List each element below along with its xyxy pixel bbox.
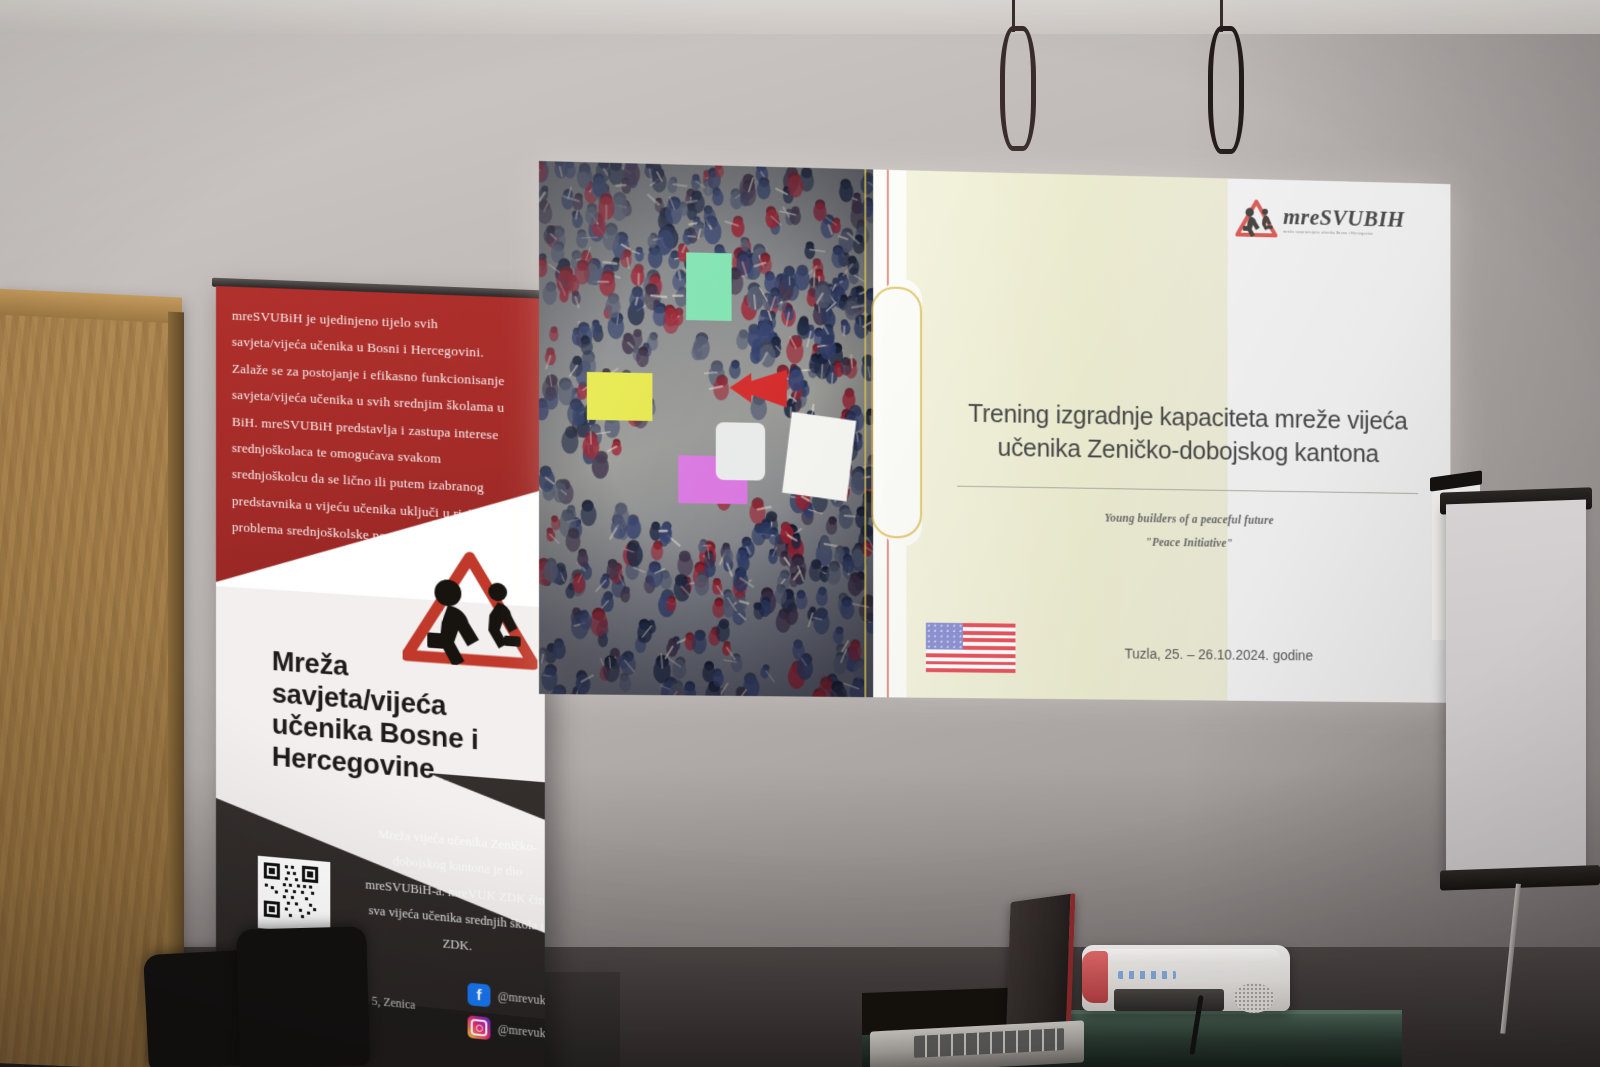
osb-wood-panel xyxy=(0,296,178,1067)
laptop-computer[interactable] xyxy=(900,898,1090,1067)
slide-gold-line xyxy=(864,169,866,697)
projector-vent xyxy=(1234,983,1274,1013)
green-note xyxy=(686,252,731,321)
projector-lens xyxy=(1082,951,1108,1003)
facebook-icon: f xyxy=(468,983,491,1008)
red-arrow-icon xyxy=(728,367,789,410)
slide-rounded-outline xyxy=(871,286,922,538)
projector-top xyxy=(1092,949,1280,963)
banner-lower-text: Mreža vijeća učenika Zeničko-dobojskog k… xyxy=(357,820,545,968)
slide-photo xyxy=(539,161,873,697)
white-paper xyxy=(782,412,856,502)
projected-slide: mreSVUBIH mreža savjeta/vijeća učenika B… xyxy=(539,161,1450,703)
slide-logo: mreSVUBIH mreža savjeta/vijeća učenika B… xyxy=(1235,198,1404,241)
qr-code-icon xyxy=(258,856,330,935)
yellow-note xyxy=(587,372,653,421)
children-crossing-triangle-icon xyxy=(1235,198,1277,238)
facebook-handle: @mrevuk_zdk xyxy=(498,991,545,1010)
instagram-handle: @mrevuk_zdk xyxy=(498,1023,545,1043)
chair-back xyxy=(236,926,370,1067)
banner-paragraph: mreSVUBiH je ujedinjeno tijelo svih savj… xyxy=(232,303,518,558)
flipchart-paper xyxy=(1446,499,1586,876)
projector[interactable] xyxy=(1082,937,1290,1019)
instagram-icon xyxy=(468,1015,491,1040)
projector-indicator-lights xyxy=(1118,971,1176,979)
projector-ports[interactable] xyxy=(1114,989,1224,1011)
slide-title: Trening izgradnje kapaciteta mreže vijeć… xyxy=(938,396,1438,472)
flipchart-easel xyxy=(1438,479,1588,914)
conference-room-scene: mreSVUBiH je ujedinjeno tijelo svih savj… xyxy=(0,0,1600,1067)
projector-body xyxy=(1082,945,1290,1011)
banner-social-links: f @mrevuk_zdk @mrevuk_zdk xyxy=(468,983,545,1059)
strap-loop xyxy=(1000,26,1036,151)
children-crossing-triangle-icon xyxy=(403,547,538,670)
center-object xyxy=(716,422,765,480)
logo-text: mreSVUBIH xyxy=(1283,205,1404,230)
banner-headline: Mreža savjeta/vijeća učenika Bosne i Her… xyxy=(272,646,514,792)
instagram-row: @mrevuk_zdk xyxy=(468,1015,545,1048)
strap-loop xyxy=(1208,26,1244,154)
